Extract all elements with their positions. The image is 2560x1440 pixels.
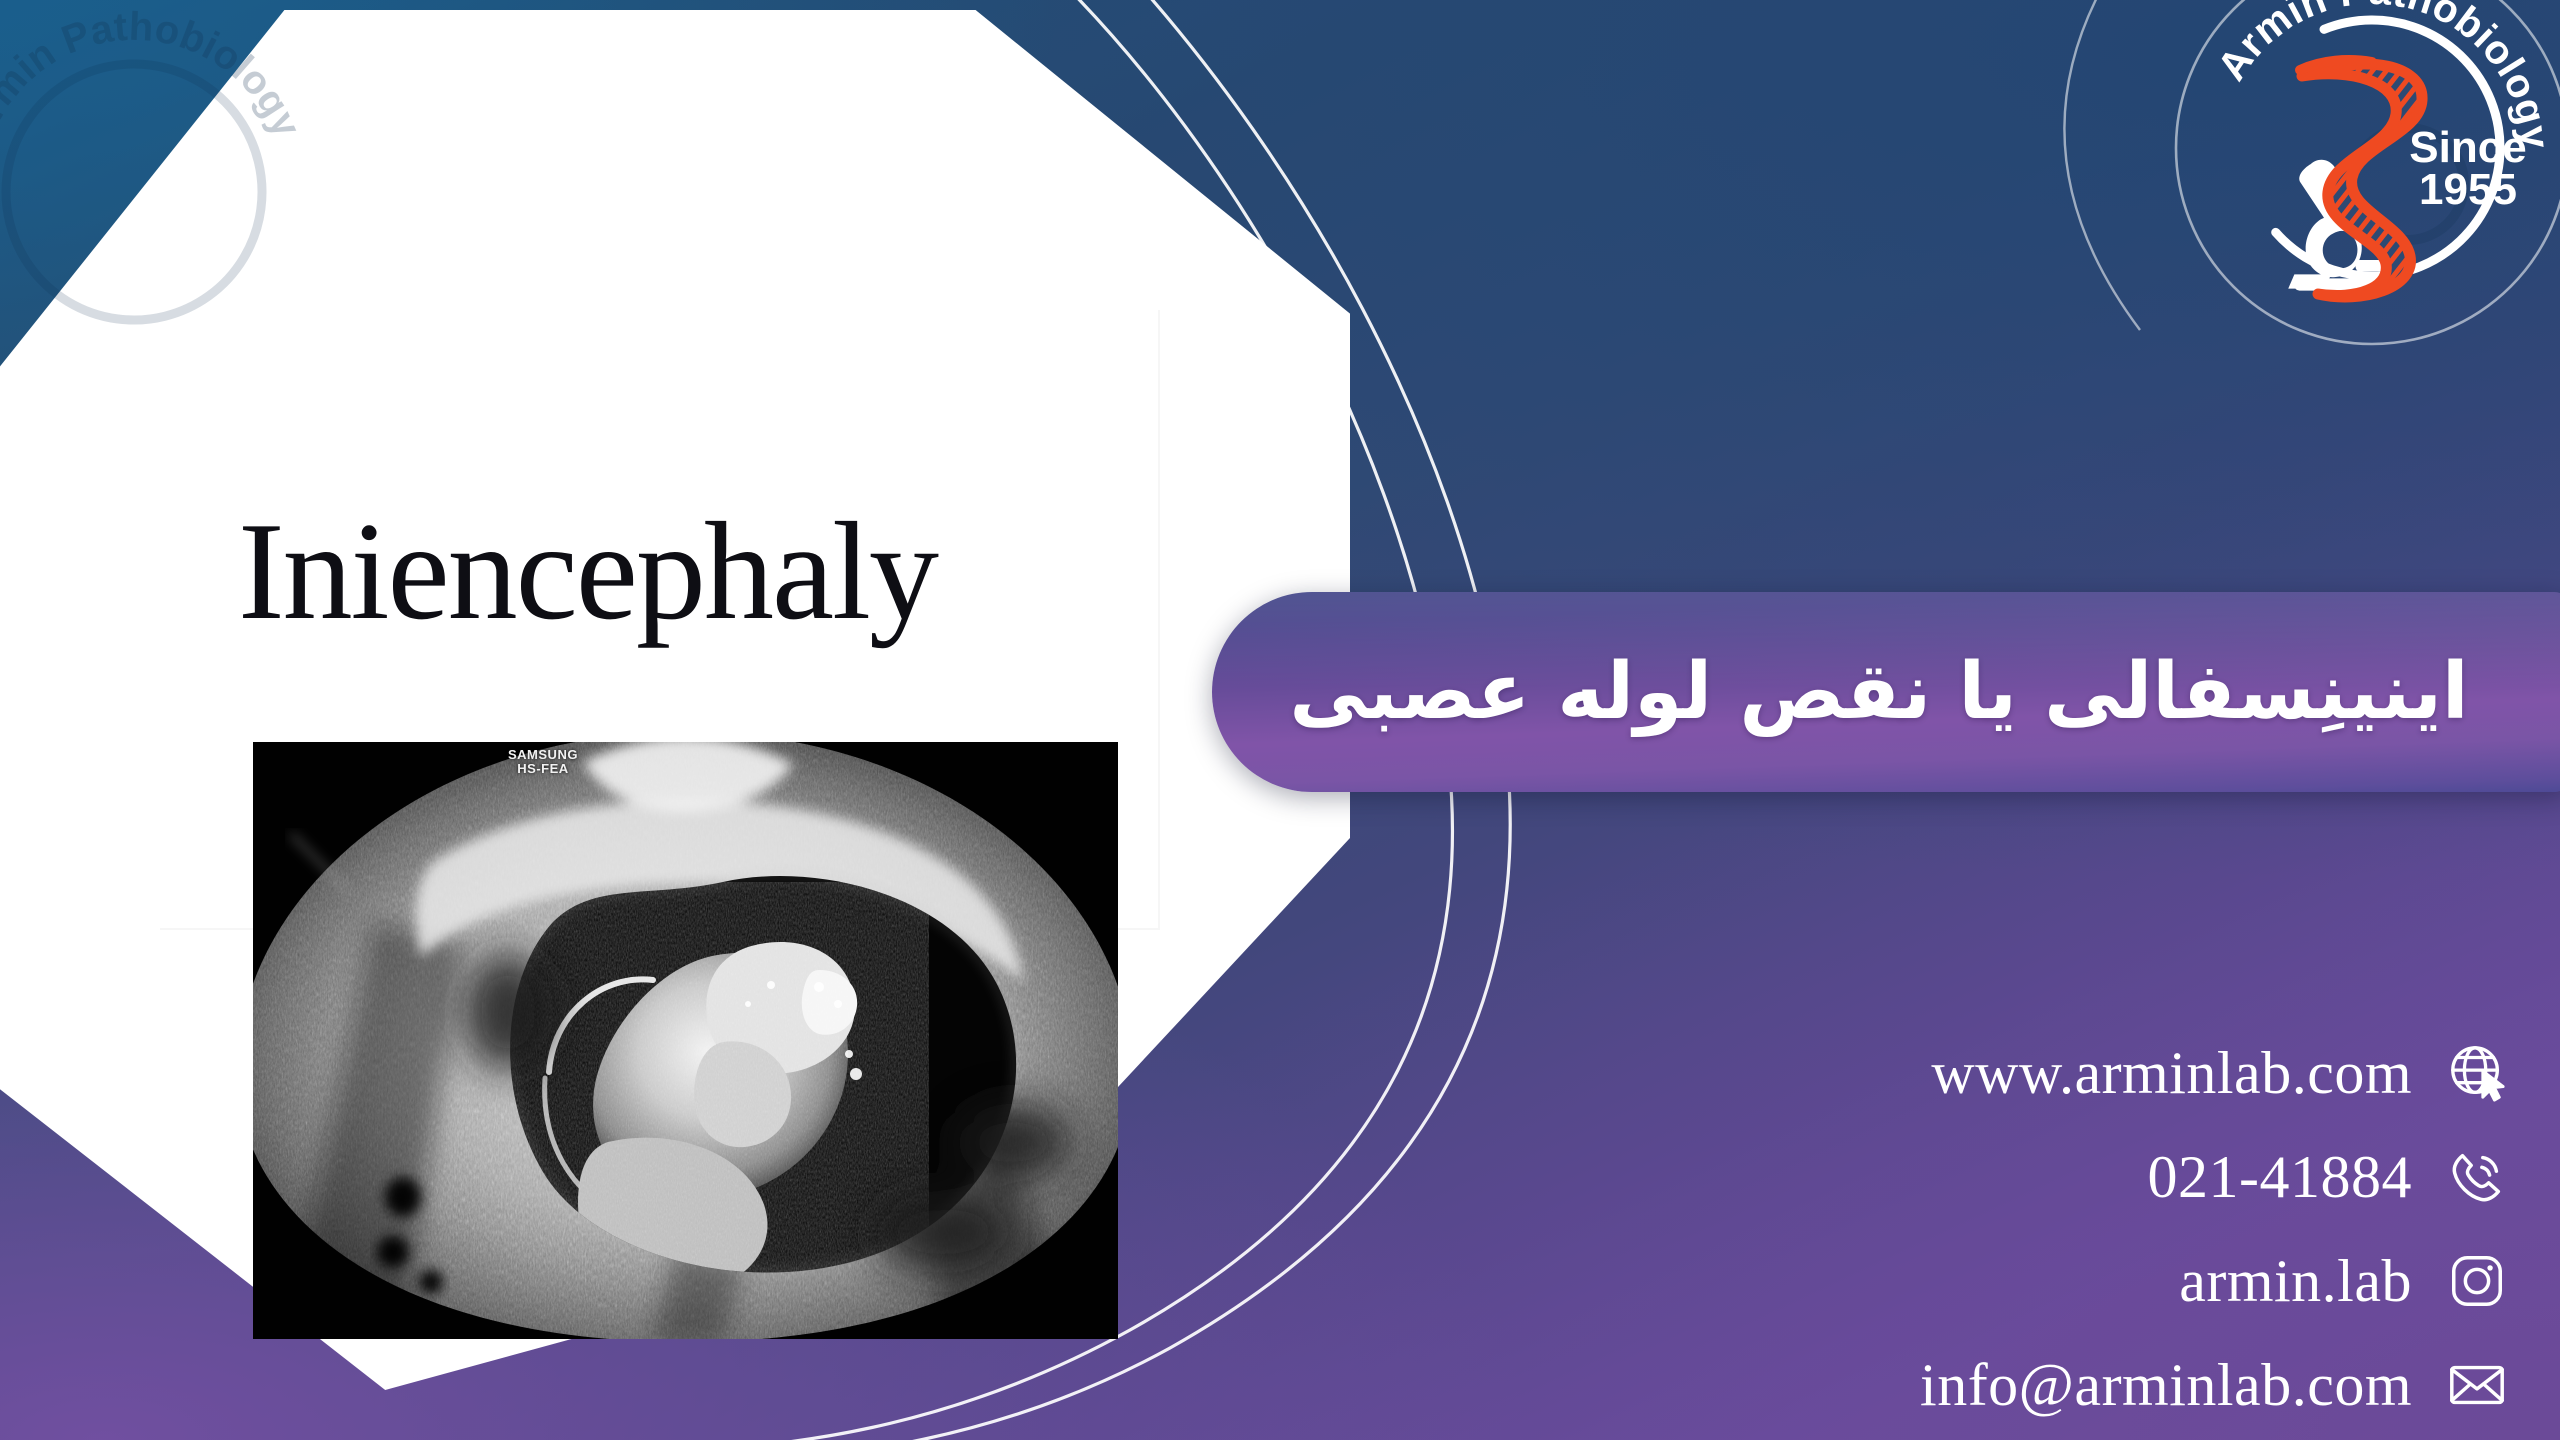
contact-row-email[interactable]: info@arminlab.com — [1688, 1342, 2508, 1428]
page-title: Iniencephaly — [238, 502, 1238, 642]
contact-row-website[interactable]: www.arminlab.com — [1688, 1030, 2508, 1116]
since-year: 1955 — [2419, 165, 2517, 214]
instagram-icon[interactable] — [2446, 1250, 2508, 1312]
persian-title-text: اینینِسفالی یا نقص لوله عصبی — [1289, 647, 2494, 737]
contact-row-phone[interactable]: 021-41884 — [1688, 1134, 2508, 1220]
persian-title-banner: اینینِسفالی یا نقص لوله عصبی — [1212, 592, 2560, 792]
poster-canvas: Iniencephaly — [0, 0, 2560, 1440]
contact-block: www.arminlab.com 021-41884 — [1688, 1030, 2508, 1428]
phone-label[interactable]: 021-41884 — [2148, 1147, 2412, 1207]
device-brand: SAMSUNG — [508, 748, 578, 762]
contact-row-instagram[interactable]: armin.lab — [1688, 1238, 2508, 1324]
ultrasound-device-label: SAMSUNG HS-FEA — [508, 748, 578, 775]
globe-cursor-icon[interactable] — [2446, 1042, 2508, 1104]
website-label[interactable]: www.arminlab.com — [1931, 1043, 2412, 1103]
svg-text:Armin Pathobiology Lab: Armin Pathobiology Lab — [0, 0, 314, 239]
phone-call-icon[interactable] — [2446, 1146, 2508, 1208]
device-model: HS-FEA — [508, 762, 578, 776]
instagram-label[interactable]: armin.lab — [2179, 1251, 2412, 1311]
logo-since-block: Since 1955 — [2409, 123, 2526, 214]
armin-lab-logo[interactable]: Armin Pathobiology Lab Since 1955 — [2172, 0, 2560, 348]
email-envelope-icon[interactable] — [2446, 1354, 2508, 1416]
ultrasound-scan-graphic — [253, 742, 1118, 1339]
ultrasound-image: SAMSUNG HS-FEA — [253, 742, 1118, 1339]
email-label[interactable]: info@arminlab.com — [1920, 1355, 2412, 1415]
